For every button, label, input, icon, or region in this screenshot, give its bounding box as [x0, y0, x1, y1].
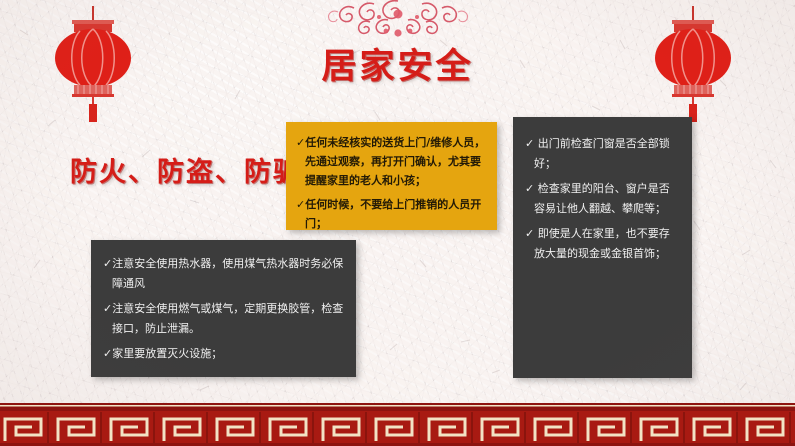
theft-prevention-list: ✓ 出门前检查门窗是否全部锁好； ✓ 检查家里的阳台、窗户是否容易让他人翻越、攀…	[525, 134, 680, 263]
list-item: ✓ 即使是人在家里，也不要存放大量的现金或金银首饰；	[525, 224, 680, 263]
list-item: ✓注意安全使用热水器，使用煤气热水器时务必保障通风	[103, 254, 344, 293]
greek-key-pattern	[0, 408, 795, 446]
greek-key-svg	[0, 408, 795, 446]
fire-prevention-box: ✓注意安全使用热水器，使用煤气热水器时务必保障通风 ✓注意安全使用燃气或煤气，定…	[91, 240, 356, 377]
list-item: ✓ 出门前检查门窗是否全部锁好；	[525, 134, 680, 173]
page-title: 居家安全	[0, 38, 795, 89]
yellow-tips-box: ✓任何未经核实的送货上门/维修人员，先通过观察，再打开门确认，尤其要提醒家里的老…	[286, 122, 497, 230]
swirl-ornament-icon	[308, 0, 488, 40]
yellow-tips-list: ✓任何未经核实的送货上门/维修人员，先通过观察，再打开门确认，尤其要提醒家里的老…	[296, 134, 486, 234]
list-item: ✓任何未经核实的送货上门/维修人员，先通过观察，再打开门确认，尤其要提醒家里的老…	[296, 134, 486, 191]
list-item: ✓家里要放置灭火设施；	[103, 344, 344, 364]
slide-canvas: 居家安全 防火、防盗、防骗 ✓任何未经核实的送货上门/维修人员，先通过观察，再打…	[0, 0, 795, 446]
theft-prevention-box: ✓ 出门前检查门窗是否全部锁好； ✓ 检查家里的阳台、窗户是否容易让他人翻越、攀…	[513, 117, 692, 378]
fire-prevention-list: ✓注意安全使用热水器，使用煤气热水器时务必保障通风 ✓注意安全使用燃气或煤气，定…	[103, 254, 344, 364]
list-item: ✓任何时候，不要给上门推销的人员开门；	[296, 196, 486, 234]
list-item: ✓ 检查家里的阳台、窗户是否容易让他人翻越、攀爬等；	[525, 179, 680, 218]
slide-subtitle: 防火、防盗、防骗	[70, 150, 302, 189]
bottom-decorative-border	[0, 403, 795, 446]
list-item: ✓注意安全使用燃气或煤气，定期更换胶管，检查接口，防止泄漏。	[103, 299, 344, 338]
